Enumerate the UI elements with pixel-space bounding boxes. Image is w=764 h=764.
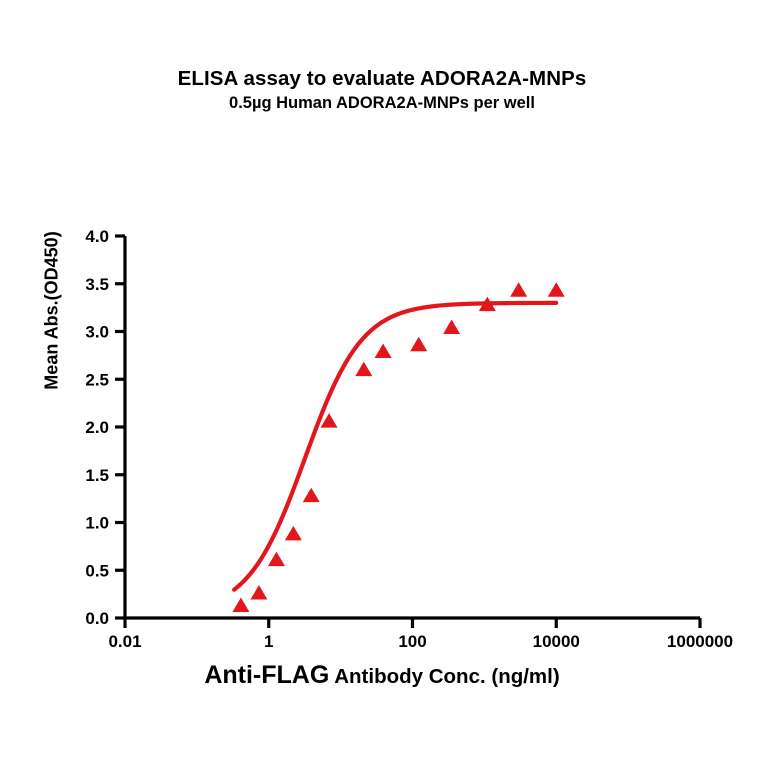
y-axis-tick-label: 2.5	[85, 370, 109, 389]
data-point-marker	[510, 282, 527, 297]
y-axis-tick-label: 0.0	[85, 609, 109, 628]
chart-page: ELISA assay to evaluate ADORA2A-MNPs 0.5…	[0, 0, 764, 764]
y-axis-tick-label: 3.0	[85, 323, 109, 342]
x-axis-tick-label: 100	[398, 632, 426, 651]
data-point-marker	[375, 343, 392, 358]
data-point-marker	[232, 597, 249, 612]
x-axis-tick-label: 1000000	[667, 632, 733, 651]
data-point-marker	[355, 362, 372, 377]
x-axis-label: Anti-FLAG Antibody Conc. (ng/ml)	[0, 661, 764, 690]
plot-area: Mean Abs.(OD450) Anti-FLAG Antibody Conc…	[0, 0, 764, 764]
data-point-marker	[548, 282, 565, 297]
data-point-marker	[268, 552, 285, 567]
y-axis-label: Mean Abs.(OD450)	[42, 171, 63, 451]
data-point-marker	[410, 337, 427, 352]
fit-curve	[234, 303, 556, 590]
chart-canvas: 0.00.51.01.52.02.53.03.54.00.01110010000…	[0, 0, 764, 764]
y-axis-tick-label: 2.0	[85, 418, 109, 437]
x-axis-label-rest: Antibody Conc. (ng/ml)	[329, 665, 559, 688]
y-axis-tick-label: 1.0	[85, 514, 109, 533]
y-axis-tick-label: 3.5	[85, 275, 109, 294]
x-axis-tick-label: 10000	[533, 632, 580, 651]
x-axis-label-bold: Anti-FLAG	[204, 661, 329, 689]
y-axis-tick-label: 0.5	[85, 561, 109, 580]
data-point-marker	[250, 585, 267, 600]
x-axis-tick-label: 0.01	[108, 632, 141, 651]
y-axis-tick-label: 1.5	[85, 466, 109, 485]
data-point-marker	[303, 488, 320, 503]
data-point-marker	[285, 526, 302, 541]
data-point-marker	[443, 320, 460, 335]
x-axis-tick-label: 1	[264, 632, 273, 651]
y-axis-tick-label: 4.0	[85, 227, 109, 246]
